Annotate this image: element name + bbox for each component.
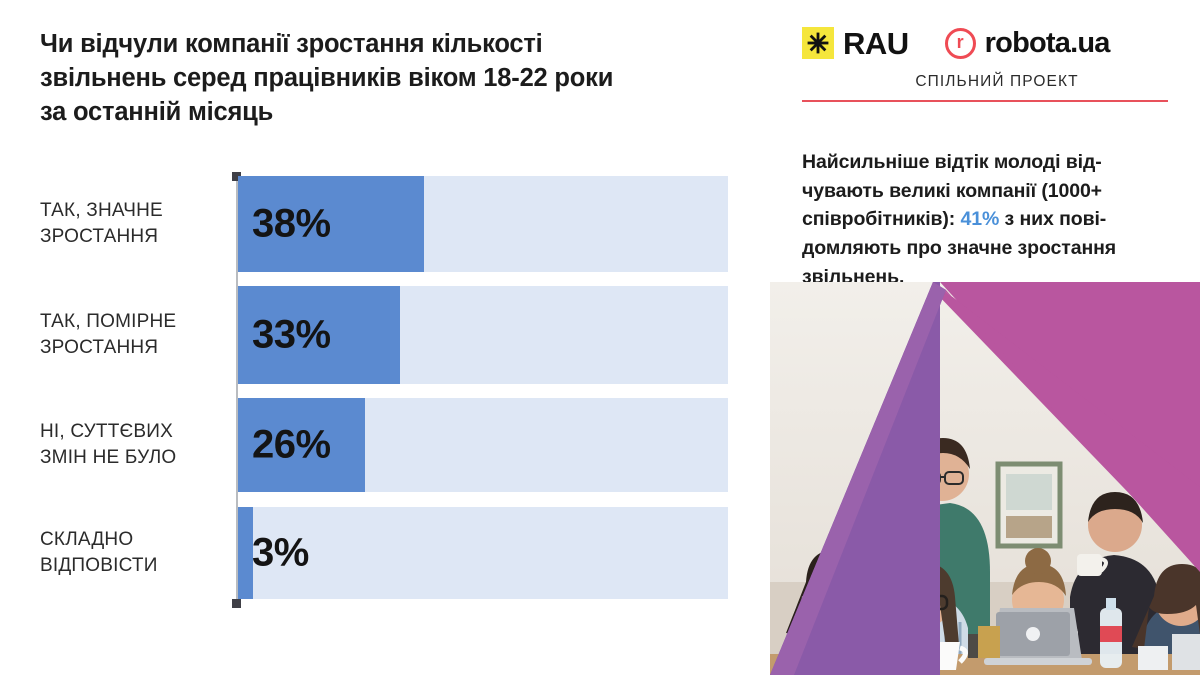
bar-track: 33% <box>238 286 728 384</box>
bar-category-label: СКЛАДНО ВІДПОВІСТИ <box>40 527 226 579</box>
logo-bar: RAU r robota.ua <box>802 27 1110 59</box>
bar-row: НІ, СУТТЄВИХ ЗМІН НЕ БУЛО26% <box>40 398 730 492</box>
bar-row: ТАК, ЗНАЧНЕ ЗРОСТАННЯ38% <box>40 176 730 272</box>
bar-track: 3% <box>238 507 728 599</box>
bar-track: 38% <box>238 176 728 272</box>
infographic-page: Чи відчули компанії зростання кількості … <box>0 0 1200 675</box>
callout-text: Найсильніше відтік молоді від-чувають ве… <box>802 148 1174 291</box>
robota-wordmark: robota.ua <box>985 29 1110 58</box>
bar-category-label: ТАК, ПОМІРНЕ ЗРОСТАННЯ <box>40 309 226 361</box>
page-title: Чи відчули компанії зростання кількості … <box>40 28 640 130</box>
office-photo-illustration <box>770 282 1200 675</box>
bar-value-label: 33% <box>252 313 331 358</box>
bar-value-label: 3% <box>252 531 309 576</box>
bar-value-label: 26% <box>252 423 331 468</box>
bar-fill[interactable] <box>238 507 253 599</box>
sidebar-panel: RAU r robota.ua СПІЛЬНИЙ ПРОЕКТ Найсильн… <box>770 0 1200 675</box>
bar-category-label: ТАК, ЗНАЧНЕ ЗРОСТАННЯ <box>40 198 226 250</box>
axis-handle-bottom-icon[interactable] <box>232 599 241 608</box>
robota-logo[interactable]: r robota.ua <box>945 28 1110 59</box>
chart-panel: Чи відчули компанії зростання кількості … <box>0 0 770 675</box>
joint-project-label: СПІЛЬНИЙ ПРОЕКТ <box>770 73 1200 91</box>
bar-row: СКЛАДНО ВІДПОВІСТИ3% <box>40 507 730 599</box>
bar-category-label: НІ, СУТТЄВИХ ЗМІН НЕ БУЛО <box>40 419 226 471</box>
bar-track: 26% <box>238 398 728 492</box>
robota-r-icon: r <box>945 28 976 59</box>
divider <box>802 100 1168 102</box>
bar-row: ТАК, ПОМІРНЕ ЗРОСТАННЯ33% <box>40 286 730 384</box>
rau-logo[interactable]: RAU <box>802 27 909 59</box>
bar-chart: ТАК, ЗНАЧНЕ ЗРОСТАННЯ38%ТАК, ПОМІРНЕ ЗРО… <box>40 176 730 604</box>
bar-value-label: 38% <box>252 202 331 247</box>
rau-wordmark: RAU <box>843 28 909 59</box>
office-photo <box>770 282 1200 675</box>
rau-star-icon <box>802 27 834 59</box>
callout-highlight: 41% <box>961 208 1000 230</box>
